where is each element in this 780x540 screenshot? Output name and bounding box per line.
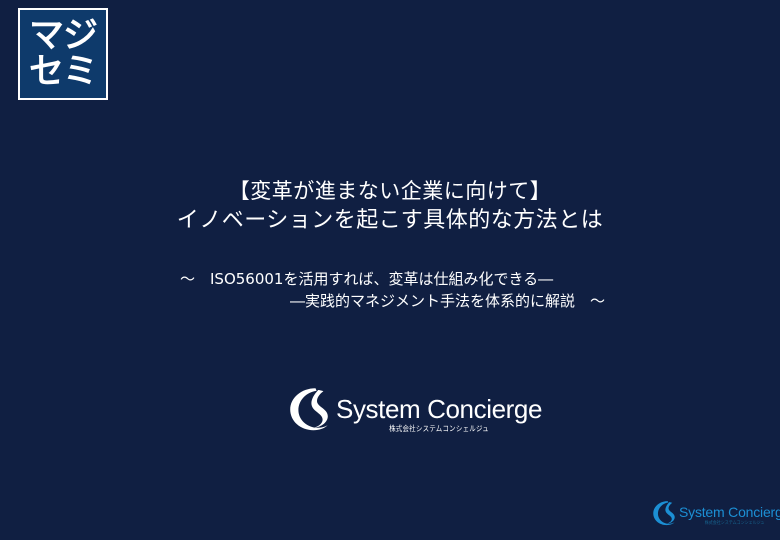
slide-title-line-1: 【変革が進まない企業に向けて】 [0,176,780,206]
system-concierge-swoosh-icon [652,500,676,526]
center-logo-wordmark-jp: 株式会社システムコンシェルジュ [389,424,489,434]
presentation-slide: マジ セミ 【変革が進まない企業に向けて】 イノベーションを起こす具体的な方法と… [0,0,780,540]
slide-title-line-2: イノベーションを起こす具体的な方法とは [0,206,780,236]
slide-subtitle: ～ ISO56001を活用すれば、変革は仕組み化できる― ―実践的マネジメント手… [0,268,780,312]
center-logo-text-group: System Concierge 株式会社システムコンシェルジュ [336,386,542,434]
footer-logo-wordmark: System Concierge [679,504,780,520]
slide-subtitle-line-1: ～ ISO56001を活用すれば、変革は仕組み化できる― [0,268,780,290]
center-logo-wordmark: System Concierge [336,394,542,424]
footer-logo-wordmark-jp: 株式会社システムコンシェルジュ [705,520,765,527]
majisemi-badge-line-2: セミ [29,54,97,90]
footer-company-logo: System Concierge 株式会社システムコンシェルジュ [652,498,770,536]
slide-subtitle-line-2: ―実践的マネジメント手法を体系的に解説 ～ [0,290,780,312]
footer-logo-text-group: System Concierge 株式会社システムコンシェルジュ [679,498,780,526]
slide-title: 【変革が進まない企業に向けて】 イノベーションを起こす具体的な方法とは [0,176,780,236]
center-company-logo: System Concierge 株式会社システムコンシェルジュ [288,386,500,434]
system-concierge-swoosh-icon [288,387,330,431]
majisemi-badge-line-1: マジ [29,18,97,54]
majisemi-brand-badge: マジ セミ [18,8,108,100]
